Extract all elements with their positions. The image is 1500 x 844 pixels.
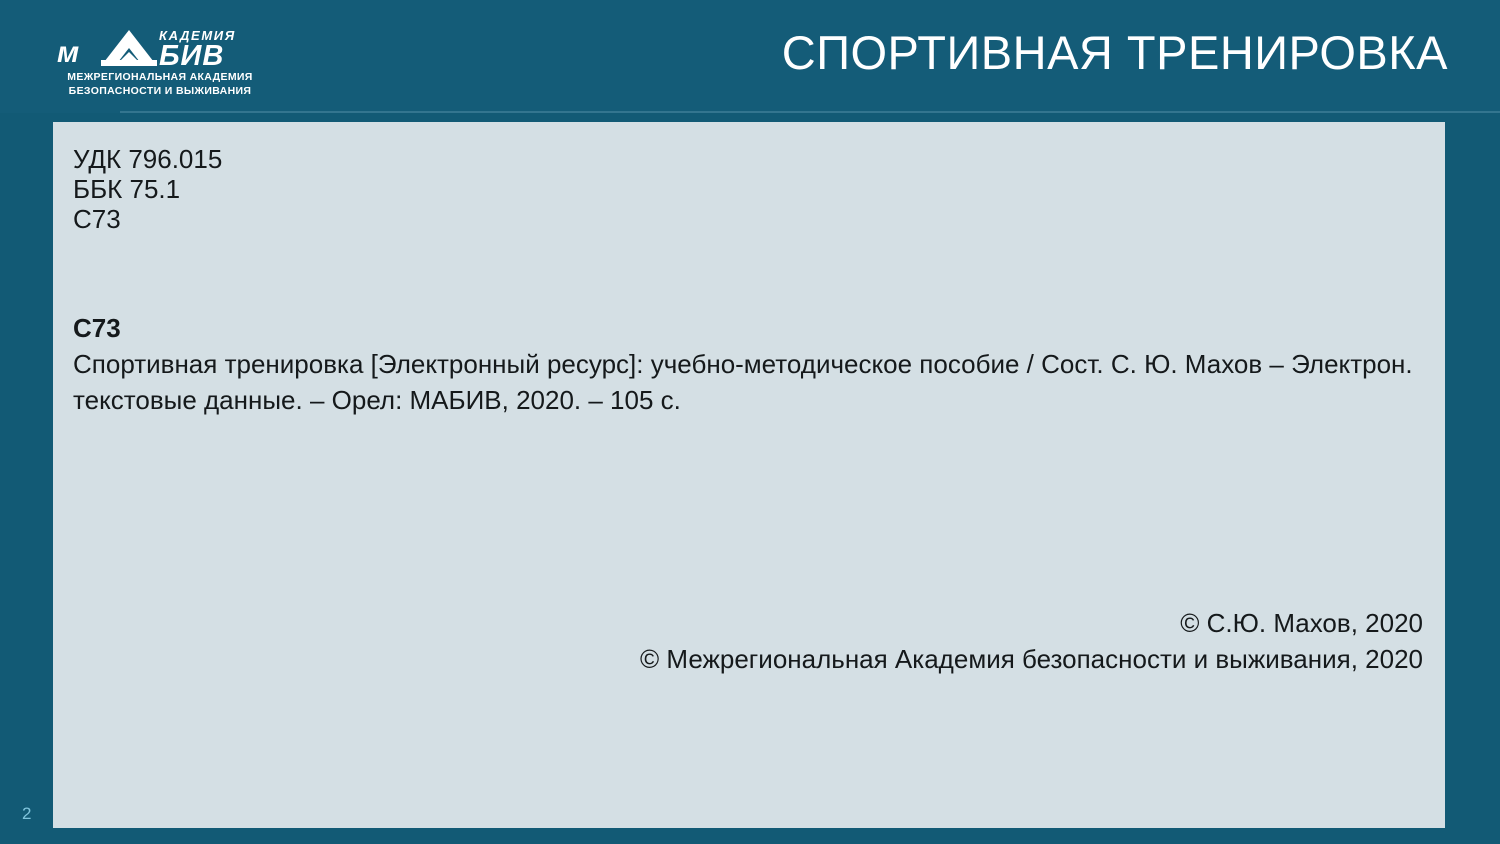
logo-subtitle-line1: МЕЖРЕГИОНАЛЬНАЯ АКАДЕМИЯ xyxy=(56,71,264,85)
header-divider xyxy=(120,111,1500,113)
content-panel: УДК 796.015 ББК 75.1 С73 С73 Спортивная … xyxy=(53,122,1445,828)
slide: м КАДЕМИЯ БИВ МЕЖРЕГИОНАЛЬНАЯ АКАДЕМИЯ Б… xyxy=(0,0,1500,844)
reference-text: Спортивная тренировка [Электронный ресур… xyxy=(73,346,1415,418)
slide-title: СПОРТИВНАЯ ТРЕНИРОВКА xyxy=(782,24,1448,82)
copyright-block: © С.Ю. Махов, 2020 © Межрегиональная Ака… xyxy=(73,605,1423,677)
logo-subtitle: МЕЖРЕГИОНАЛЬНАЯ АКАДЕМИЯ БЕЗОПАСНОСТИ И … xyxy=(56,71,264,98)
logo-subtitle-line2: БЕЗОПАСНОСТИ И ВЫЖИВАНИЯ xyxy=(56,85,264,99)
reference-code: С73 xyxy=(73,310,1415,346)
mabiv-logo-mark-icon: м КАДЕМИЯ БИВ xyxy=(55,22,265,70)
svg-text:БИВ: БИВ xyxy=(159,40,224,70)
classification-codes: УДК 796.015 ББК 75.1 С73 xyxy=(73,144,1415,234)
mabiv-logo: м КАДЕМИЯ БИВ МЕЖРЕГИОНАЛЬНАЯ АКАДЕМИЯ Б… xyxy=(55,22,265,100)
page-number: 2 xyxy=(22,804,31,824)
copyright-organization: © Межрегиональная Академия безопасности … xyxy=(73,641,1423,677)
bibliographic-reference: С73 Спортивная тренировка [Электронный р… xyxy=(73,310,1415,418)
copyright-author: © С.Ю. Махов, 2020 xyxy=(73,605,1423,641)
svg-text:м: м xyxy=(57,36,79,69)
